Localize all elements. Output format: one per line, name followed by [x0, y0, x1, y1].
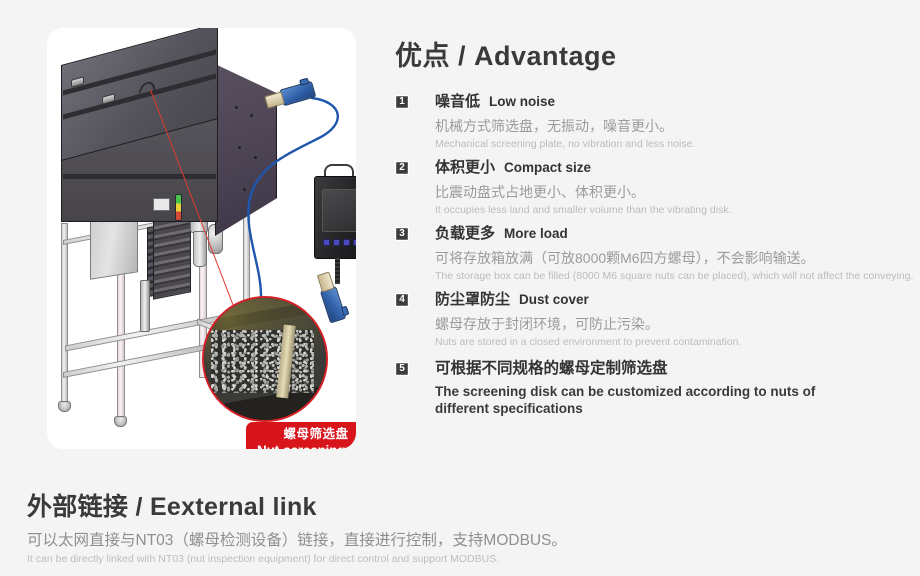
- machine-illustration: 螺母筛选盘 Nut-screening disk: [47, 28, 356, 449]
- advantage-heading-en: Compact size: [504, 160, 591, 175]
- nut-screening-disk-detail-photo: [202, 296, 328, 422]
- controller-button-4[interactable]: [353, 239, 356, 246]
- controller-button-1[interactable]: [323, 239, 330, 246]
- advantage-number-badge: 5: [395, 362, 409, 376]
- advantage-number-badge: 1: [395, 95, 409, 109]
- detail-caption-en: Nut-screening disk: [246, 443, 356, 449]
- advantage-number-badge: 2: [395, 161, 409, 175]
- external-link-section-title: 外部链接 / Eexternal link: [27, 487, 317, 523]
- advantage-item-2: 2 体积更小Compact size 比震动盘式占地更小、体积更小。 It oc…: [395, 158, 915, 217]
- advantage-desc-en: It occupies less land and smaller volume…: [435, 203, 915, 217]
- advantage-item-4: 4 防尘罩防尘Dust cover 螺母存放于封闭环境，可防止污染。 Nuts …: [395, 290, 915, 349]
- advantage-section-title: 优点 / Advantage: [395, 34, 617, 73]
- advantage-item-heading: 体积更小Compact size: [435, 158, 915, 179]
- advantage-item-heading: 防尘罩防尘Dust cover: [435, 290, 915, 311]
- product-advantage-page: 螺母筛选盘 Nut-screening disk 优点 / Advantage …: [0, 0, 920, 576]
- advantage-desc-en: The storage box can be filled (8000 M6 s…: [435, 269, 920, 283]
- external-link-title-separator: /: [128, 493, 150, 521]
- advantage-desc-cn: 可将存放箱放满（可放8000颗M6四方螺母），不会影响输送。: [435, 248, 915, 268]
- external-link-title-en: Eexternal link: [150, 493, 317, 521]
- advantage-heading-cn: 噪音低: [435, 93, 480, 110]
- advantage-item-1: 1 噪音低Low noise 机械方式筛选盘，无振动，噪音更小。 Mechani…: [395, 92, 915, 151]
- nuts-pile: [211, 330, 313, 393]
- advantage-desc-cn: 螺母存放于封闭环境，可防止污染。: [435, 314, 915, 334]
- advantage-item-3: 3 负载更多More load 可将存放箱放满（可放8000颗M6四方螺母），不…: [395, 224, 915, 283]
- advantage-desc-cn: 比震动盘式占地更小、体积更小。: [435, 182, 915, 202]
- advantage-desc-en: Mechanical screening plate, no vibration…: [435, 137, 915, 151]
- advantage-title-cn: 优点: [395, 41, 450, 71]
- advantage-title-separator: /: [450, 41, 474, 71]
- controller-cable: [335, 258, 340, 284]
- external-link-desc-en: It can be directly linked with NT03 (nut…: [27, 553, 499, 565]
- advantage-desc-en: The screening disk can be customized acc…: [435, 383, 855, 418]
- detail-caption-badge: 螺母筛选盘 Nut-screening disk: [246, 422, 356, 449]
- advantage-heading-en: Low noise: [489, 94, 555, 109]
- external-link-desc-cn: 可以太网直接与NT03（螺母检测设备）链接，直接进行控制，支持MODBUS。: [27, 528, 567, 550]
- advantage-item-heading: 噪音低Low noise: [435, 92, 915, 113]
- advantage-list: 1 噪音低Low noise 机械方式筛选盘，无振动，噪音更小。 Mechani…: [395, 92, 915, 425]
- advantage-item-heading: 负载更多More load: [435, 224, 915, 245]
- detail-caption-cn: 螺母筛选盘: [246, 427, 356, 443]
- advantage-item-5: 5 可根据不同规格的螺母定制筛选盘 The screening disk can…: [395, 359, 915, 417]
- advantage-number-badge: 3: [395, 227, 409, 241]
- advantage-heading-en: Dust cover: [519, 292, 589, 307]
- external-link-title-cn: 外部链接: [27, 493, 128, 521]
- advantage-desc-cn: 机械方式筛选盘，无振动，噪音更小。: [435, 116, 915, 136]
- product-image-card: 螺母筛选盘 Nut-screening disk: [47, 28, 356, 449]
- advantage-item-heading: 可根据不同规格的螺母定制筛选盘: [435, 359, 915, 380]
- controller-screen: [322, 189, 356, 232]
- advantage-number-badge: 4: [395, 293, 409, 307]
- advantage-title-en: Advantage: [474, 41, 617, 71]
- controller-button-2[interactable]: [333, 239, 340, 246]
- advantage-desc-en: Nuts are stored in a closed environment …: [435, 335, 915, 349]
- advantage-heading-cn: 负载更多: [435, 225, 495, 242]
- advantage-heading-cn: 体积更小: [435, 159, 495, 176]
- advantage-heading-en: More load: [504, 226, 568, 241]
- advantage-heading-cn: 可根据不同规格的螺母定制筛选盘: [435, 360, 668, 377]
- advantage-heading-cn: 防尘罩防尘: [435, 291, 510, 308]
- controller-button-3[interactable]: [343, 239, 350, 246]
